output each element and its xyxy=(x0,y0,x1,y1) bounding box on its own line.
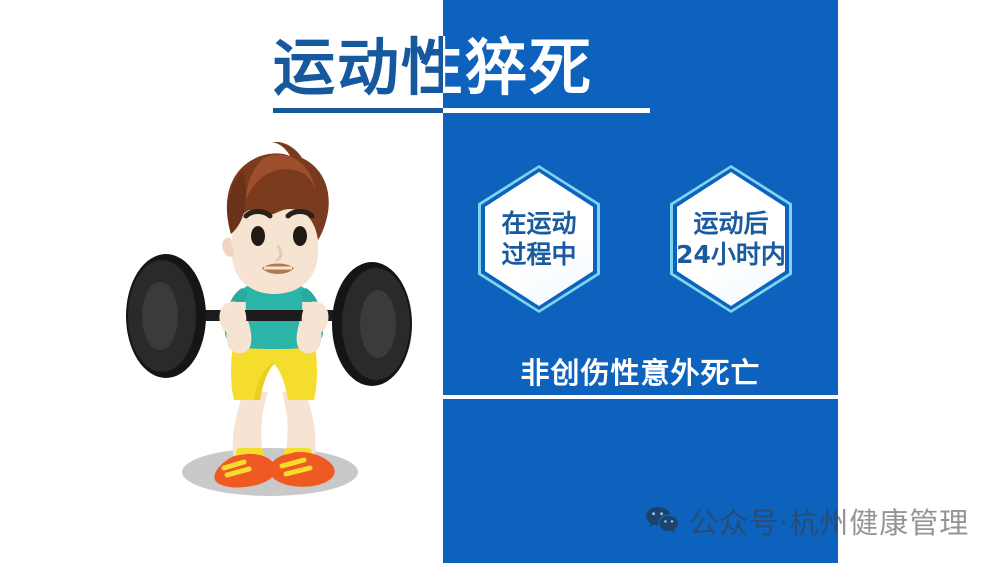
hexagon-line-2: 24小时内 xyxy=(676,239,786,270)
watermark: 公众号·杭州健康管理 xyxy=(645,500,969,542)
left-eye xyxy=(251,226,265,246)
slide-canvas: 运动性猝死 在运动 过程中 运动后 24小时内 非创伤性意外死亡 xyxy=(0,0,1000,563)
watermark-text: 公众号·杭州健康管理 xyxy=(689,500,969,542)
right-eye xyxy=(293,226,307,246)
panel-caption: 非创伤性意外死亡 xyxy=(443,350,838,392)
hexagon-line-1: 在运动 xyxy=(501,208,576,239)
panel-divider xyxy=(443,395,838,399)
page-title-text: 运动性猝死 xyxy=(273,32,593,104)
page-title: 运动性猝死 xyxy=(273,32,653,122)
barbell-plate-right xyxy=(332,262,412,386)
hexagon-line-2: 过程中 xyxy=(501,239,576,270)
left-hand xyxy=(219,301,246,333)
barbell-plate-left xyxy=(126,254,206,378)
weightlifter-illustration xyxy=(118,142,418,502)
page-title-underline xyxy=(273,108,650,113)
wechat-icon xyxy=(645,506,679,536)
hexagon-line-1: 运动后 xyxy=(693,208,768,239)
right-hand xyxy=(302,301,329,333)
